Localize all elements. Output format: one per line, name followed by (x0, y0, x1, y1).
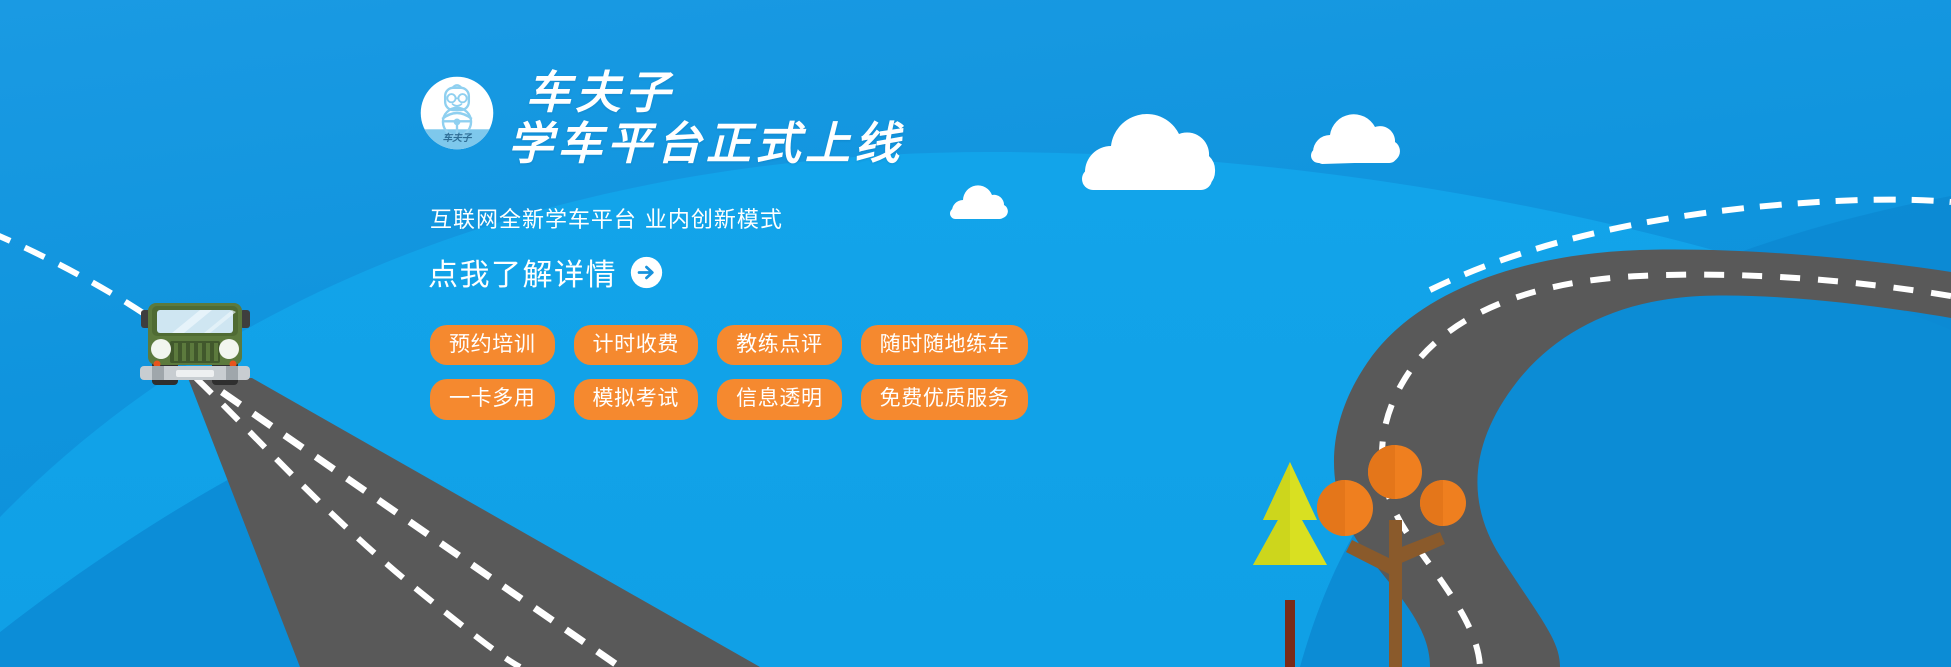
green-jeep (140, 303, 250, 385)
logo-band-text: 车夫子 (443, 132, 473, 144)
arrow-right-circle-icon[interactable] (630, 256, 663, 289)
feature-tag[interactable]: 随时随地练车 (861, 325, 1029, 365)
feature-tag[interactable]: 计时收费 (574, 325, 699, 365)
feature-tag[interactable]: 模拟考试 (574, 379, 699, 419)
headline-line-1: 车夫子 (520, 70, 904, 116)
feature-tag[interactable]: 免费优质服务 (861, 379, 1029, 419)
brand-row: 车夫子 车夫子 学车平台正式上线 (420, 76, 904, 172)
che-fu-zi-logo-icon[interactable]: 车夫子 (420, 76, 494, 150)
headline-block: 车夫子 学车平台正式上线 (520, 70, 904, 172)
headline-line-2: 学车平台正式上线 (508, 116, 904, 172)
cta-learn-more[interactable]: 点我了解详情 (428, 250, 663, 294)
feature-tag-row-2: 一卡多用 模拟考试 信息透明 免费优质服务 (430, 379, 1028, 419)
feature-tag[interactable]: 教练点评 (717, 325, 842, 365)
feature-tag-row-1: 预约培训 计时收费 教练点评 随时随地练车 (430, 325, 1028, 365)
feature-tag[interactable]: 预约培训 (430, 325, 555, 365)
cta-label: 点我了解详情 (428, 250, 617, 294)
banner-subtitle: 互联网全新学车平台 业内创新模式 (430, 202, 783, 234)
feature-tag[interactable]: 一卡多用 (430, 379, 555, 419)
feature-tag-groups: 预约培训 计时收费 教练点评 随时随地练车 一卡多用 模拟考试 信息透明 免费优… (430, 325, 1028, 434)
promo-banner: 车夫子 车夫子 学车平台正式上线 互联网全新学车平台 业内创新模式 点我了解详情… (0, 0, 1951, 667)
feature-tag[interactable]: 信息透明 (717, 379, 842, 419)
